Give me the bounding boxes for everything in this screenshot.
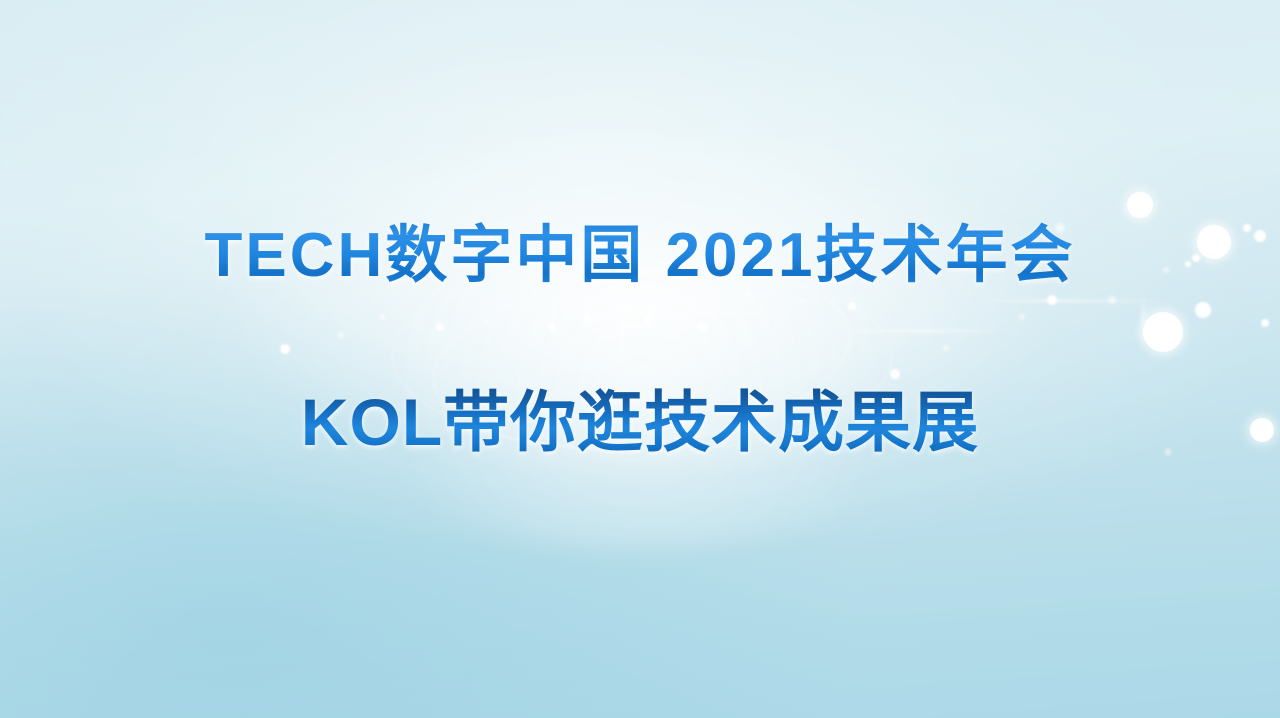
bokeh-particle — [1019, 314, 1025, 320]
bokeh-particle — [1127, 192, 1153, 218]
bokeh-particle — [548, 323, 556, 331]
light-beam-left — [552, 288, 555, 360]
bokeh-particle — [1261, 319, 1269, 327]
bokeh-particle — [799, 298, 805, 304]
bokeh-particle — [1108, 296, 1116, 304]
bokeh-particle — [1143, 312, 1183, 352]
bokeh-particle — [1195, 302, 1211, 318]
bokeh-particle — [380, 314, 386, 320]
title-line-secondary: KOL带你逛技术成果展 — [0, 382, 1280, 462]
bokeh-particle — [436, 323, 444, 331]
light-streak-lower — [820, 330, 1020, 332]
bokeh-particle — [1047, 295, 1057, 305]
light-streak-upper — [596, 312, 836, 314]
title-line-primary: TECH数字中国 2021技术年会 — [0, 218, 1280, 294]
bokeh-particle — [943, 345, 949, 351]
light-beam-center — [621, 284, 625, 380]
bokeh-particle — [698, 322, 708, 332]
light-beam-right — [1142, 292, 1145, 350]
bokeh-particle — [280, 344, 290, 354]
bokeh-particle — [338, 332, 344, 338]
title-card-stage: TECH数字中国 2021技术年会 KOL带你逛技术成果展 — [0, 0, 1280, 718]
bokeh-particle — [483, 319, 489, 325]
bokeh-particle — [890, 369, 900, 379]
bokeh-particle — [644, 314, 652, 322]
bokeh-particle — [583, 314, 591, 322]
bokeh-particle — [848, 302, 856, 310]
light-streak-far — [960, 300, 1170, 302]
